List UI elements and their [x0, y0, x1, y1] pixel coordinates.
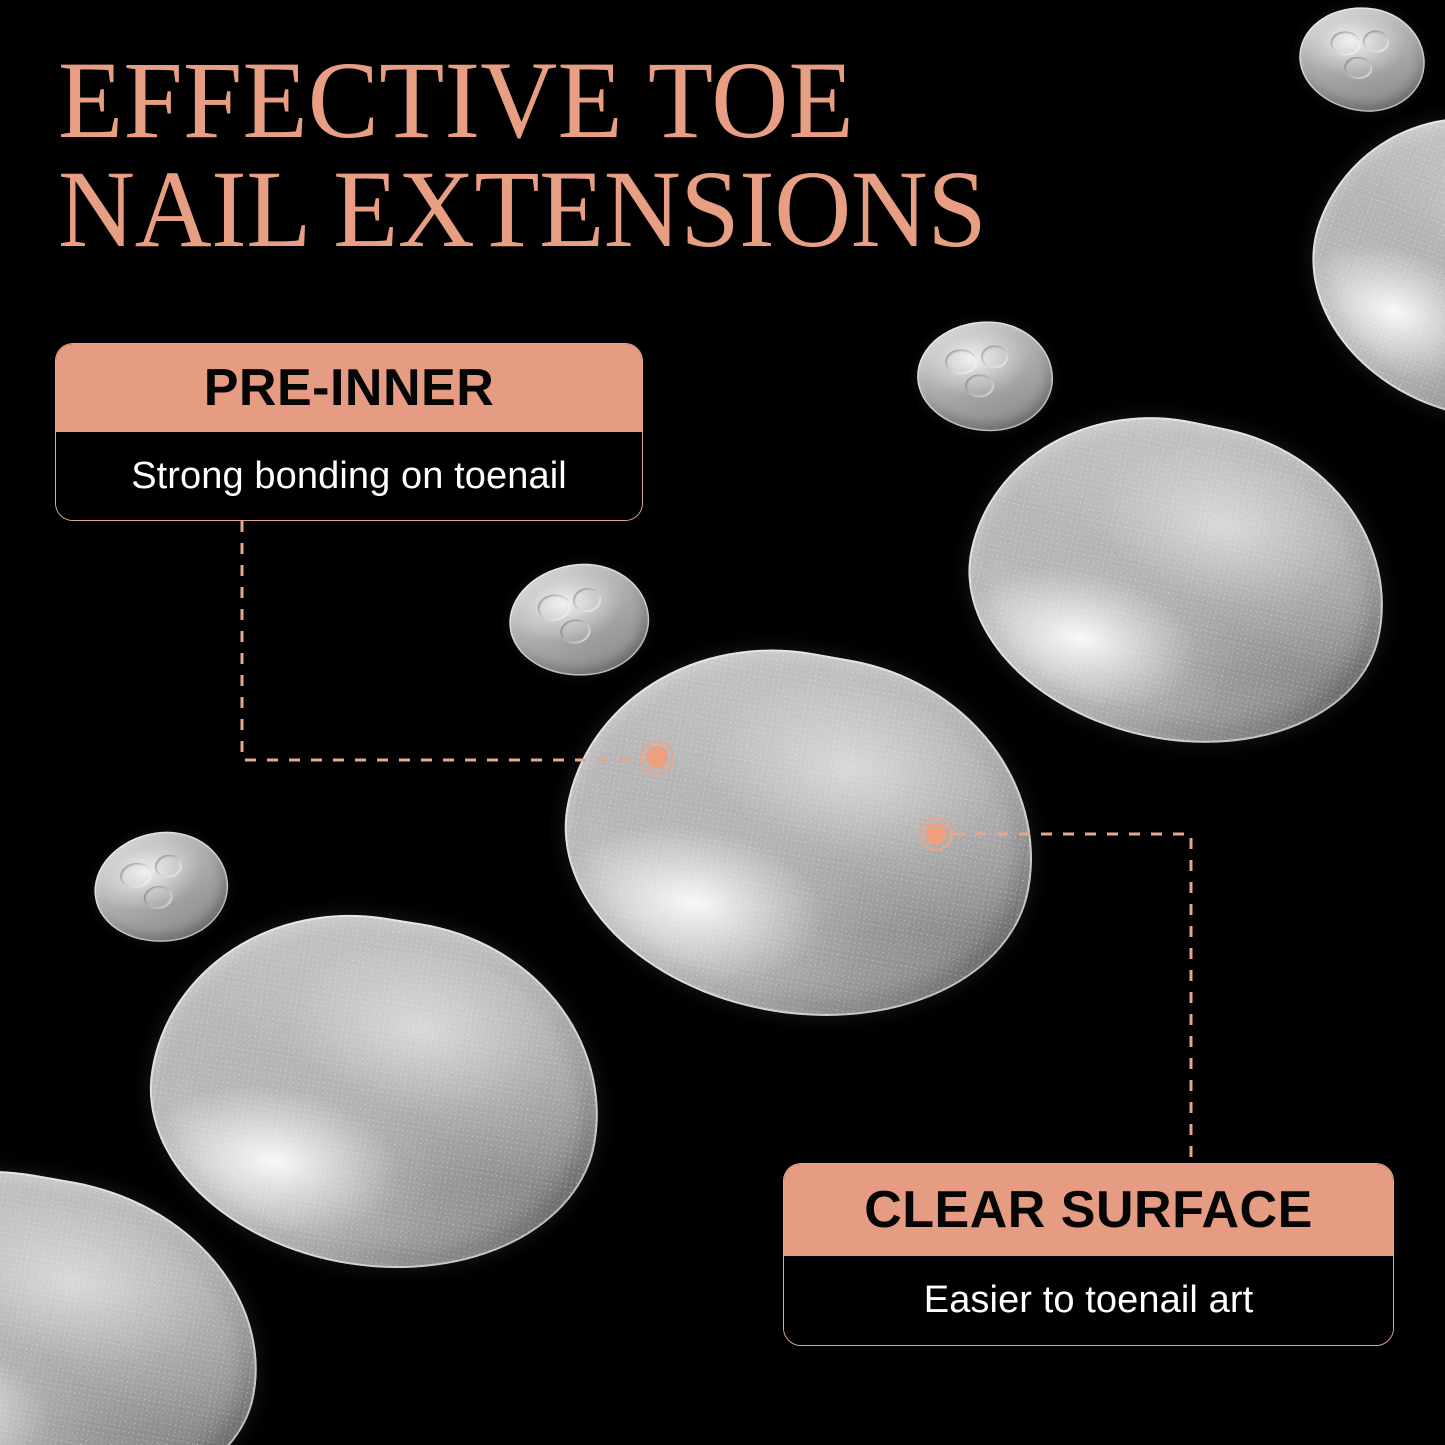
- callout-card-clear-surface[interactable]: CLEAR SURFACE Easier to toenail art: [783, 1163, 1394, 1346]
- title-line-1: EFFECTIVE TOE: [58, 46, 986, 155]
- nail-grip-tab: [917, 321, 1053, 431]
- infographic-canvas: EFFECTIVE TOE NAIL EXTENSIONS PRE-INNER …: [0, 0, 1445, 1445]
- nail-grip-tab: [504, 557, 655, 683]
- page-title: EFFECTIVE TOE NAIL EXTENSIONS: [58, 46, 1015, 264]
- nail-grip-tab: [1294, 1, 1430, 118]
- callout-card-pre-inner[interactable]: PRE-INNER Strong bonding on toenail: [55, 343, 643, 521]
- callout-description-pre-inner: Strong bonding on toenail: [56, 432, 642, 520]
- nail-grip-tab: [86, 822, 236, 952]
- callout-heading-pre-inner: PRE-INNER: [56, 344, 642, 432]
- callout-heading-clear-surface: CLEAR SURFACE: [784, 1164, 1393, 1256]
- title-line-2: NAIL EXTENSIONS: [58, 155, 986, 264]
- callout-description-clear-surface: Easier to toenail art: [784, 1256, 1393, 1345]
